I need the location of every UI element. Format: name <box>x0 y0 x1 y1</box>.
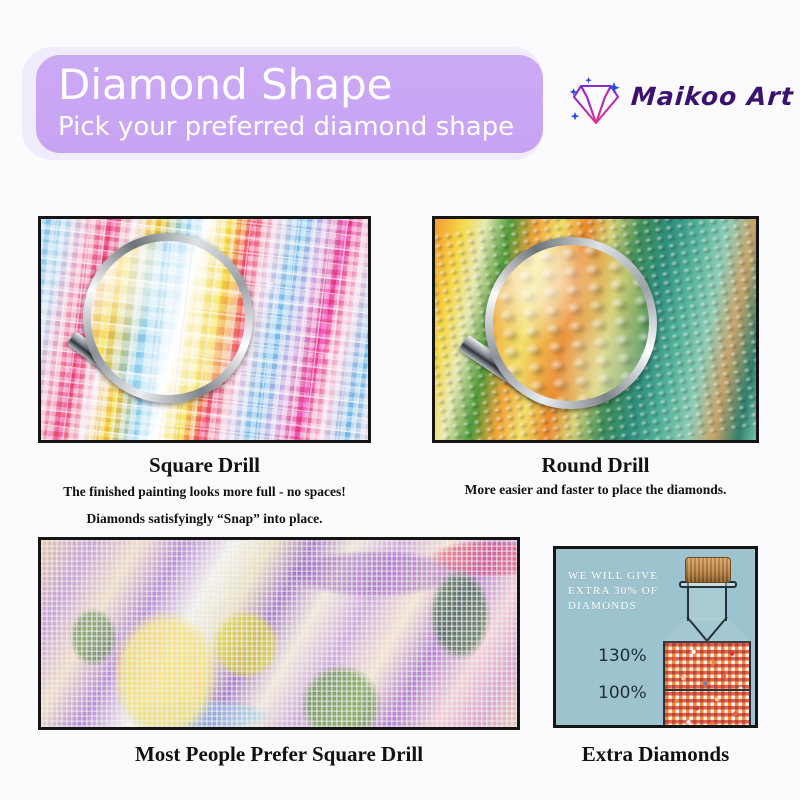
bottle-diamond-fill <box>665 643 749 728</box>
bottle-body <box>663 641 751 728</box>
page-title: Diamond Shape <box>58 59 543 111</box>
diamond-icon <box>565 70 627 132</box>
canvas-title: Most People Prefer Square Drill <box>38 741 520 767</box>
finished-canvas-image <box>38 537 520 730</box>
page-subtitle: Pick your preferred diamond shape <box>58 111 543 143</box>
canvas-grid <box>41 540 517 727</box>
magnifier-ring <box>485 237 657 409</box>
round-drill-image <box>432 216 759 443</box>
round-drill-desc-1: More easier and faster to place the diam… <box>410 481 781 499</box>
magnifier-zoomed-content <box>493 245 649 401</box>
header: Diamond Shape Pick your preferred diamon… <box>0 0 800 175</box>
bottle-promo-text: WE WILL GIVE EXTRA 30% OF DIAMONDS <box>568 569 658 614</box>
magnifier-icon <box>485 237 657 409</box>
bottle-promo-line-1: WE WILL GIVE <box>568 569 658 584</box>
bottle-cork <box>685 557 731 583</box>
bottle-level-130: 130% <box>598 646 647 666</box>
header-pill: Diamond Shape Pick your preferred diamon… <box>36 55 543 153</box>
extra-diamonds-image: WE WILL GIVE EXTRA 30% OF DIAMONDS 130% … <box>553 546 758 728</box>
square-drill-title: Square Drill <box>38 452 371 478</box>
magnifier-zoomed-content <box>91 241 245 395</box>
magnifier-ring <box>83 233 253 403</box>
bottle-promo-line-2: EXTRA 30% OF <box>568 584 658 599</box>
bottle-level-100: 100% <box>598 683 647 703</box>
round-drill-title: Round Drill <box>420 452 771 478</box>
magnifier-glass <box>493 245 649 401</box>
square-drill-desc-1: The finished painting looks more full - … <box>18 483 391 501</box>
brand-name: Maikoo Art <box>630 82 795 112</box>
promo-infographic: Diamond Shape Pick your preferred diamon… <box>0 0 800 800</box>
extra-diamonds-title: Extra Diamonds <box>553 741 758 767</box>
square-drill-desc-2: Diamonds satisfyingly “Snap” into place. <box>18 510 391 528</box>
bottle-promo-line-3: DIAMONDS <box>568 599 658 614</box>
square-drill-image <box>38 216 371 443</box>
bottle-icon <box>661 557 753 728</box>
magnifier-glass <box>91 241 245 395</box>
brand-logo: Maikoo Art <box>565 68 790 134</box>
bottle-level-line <box>665 689 749 691</box>
magnifier-icon <box>83 233 253 403</box>
